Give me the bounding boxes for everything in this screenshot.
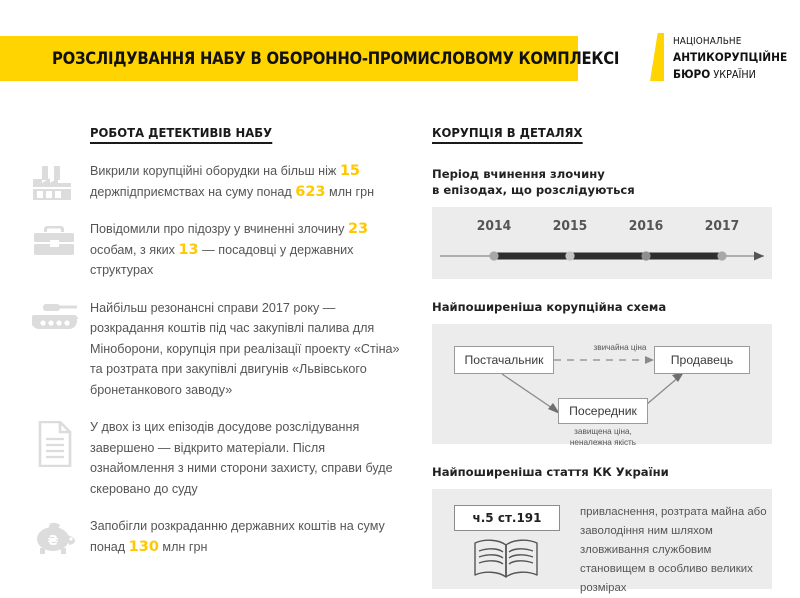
briefcase-icon <box>28 219 82 257</box>
fact-highlight-number: 130 <box>129 539 159 555</box>
fact-highlight-number: 623 <box>295 184 325 200</box>
open-book-icon <box>470 537 542 588</box>
scheme-heading: Найпоширеніша корупційна схема <box>432 299 772 315</box>
logo-mark-icon <box>650 33 664 81</box>
fact-item: Повідомили про підозру у вчиненні злочин… <box>28 219 408 281</box>
factory-icon <box>28 161 82 201</box>
timeline-year-label: 2017 <box>705 219 739 234</box>
page-header: РОЗСЛІДУВАННЯ НАБУ В ОБОРОННО-ПРОМИСЛОВО… <box>0 0 800 110</box>
scheme-box-intermediary: Посередник <box>558 398 648 424</box>
fact-text-fragment: особам, з яких <box>90 243 178 257</box>
timeline-year-label: 2014 <box>477 219 511 234</box>
scheme-box-supplier: Постачальник <box>454 346 554 374</box>
document-icon <box>28 417 82 467</box>
timeline-block: Період вчинення злочину в епізодах, що р… <box>432 166 772 279</box>
fact-text-fragment: Викрили корупційні оборудки на більш ніж <box>90 164 340 178</box>
timeline-graphic <box>432 241 772 271</box>
logo-line-3-bold: БЮРО <box>673 67 710 81</box>
scheme-box-seller: Продавець <box>654 346 750 374</box>
logo-line-2: АНТИКОРУПЦІЙНЕ <box>673 49 787 66</box>
fact-highlight-number: 13 <box>178 242 198 258</box>
fact-item: Викрили корупційні оборудки на більш ніж… <box>28 161 408 202</box>
logo-line-3: БЮРО УКРАЇНИ <box>673 66 787 84</box>
scheme-caption-inflated: завищена ціна, неналежна якість <box>553 426 653 448</box>
fact-text-fragment: Найбільш резонансні справи 2017 року — р… <box>90 301 400 397</box>
scheme-caption-inflated-line1: завищена ціна, <box>553 426 653 437</box>
timeline-heading-line2: в епізодах, що розслідуються <box>432 182 772 198</box>
fact-highlight-number: 15 <box>340 163 360 179</box>
fact-highlight-number: 23 <box>348 221 368 237</box>
title-banner: РОЗСЛІДУВАННЯ НАБУ В ОБОРОННО-ПРОМИСЛОВО… <box>0 36 578 81</box>
fact-item: ₴ Запобігли розкраданню державних коштів… <box>28 516 408 557</box>
fact-text-fragment: млн грн <box>326 185 375 199</box>
fact-item-text: Повідомили про підозру у вчиненні злочин… <box>82 219 408 281</box>
fact-item-text: Найбільш резонансні справи 2017 року — р… <box>82 298 408 401</box>
left-items-list: Викрили корупційні оборудки на більш ніж… <box>28 161 408 557</box>
fact-text-fragment: Повідомили про підозру у вчиненні злочин… <box>90 222 348 236</box>
fact-item: У двох із цих епізодів досудове розсліду… <box>28 417 408 499</box>
fact-text-fragment: У двох із цих епізодів досудове розсліду… <box>90 420 393 496</box>
scheme-caption-inflated-line2: неналежна якість <box>553 437 653 448</box>
piggy-bank-icon: ₴ <box>28 516 82 554</box>
scheme-caption-normal-price: звичайна ціна <box>572 342 668 353</box>
page-title: РОЗСЛІДУВАННЯ НАБУ В ОБОРОННО-ПРОМИСЛОВО… <box>52 49 619 68</box>
fact-item-text: У двох із цих епізодів досудове розсліду… <box>82 417 408 499</box>
nabu-logo: НАЦІОНАЛЬНЕ АНТИКОРУПЦІЙНЕ БЮРО УКРАЇНИ <box>650 33 790 85</box>
timeline-heading: Період вчинення злочину в епізодах, що р… <box>432 166 772 198</box>
fact-text-fragment: держпідприємствах на суму понад <box>90 185 295 199</box>
fact-item-text: Викрили корупційні оборудки на більш ніж… <box>82 161 408 202</box>
right-section-title: КОРУПЦІЯ В ДЕТАЛЯХ <box>432 125 582 144</box>
svg-text:₴: ₴ <box>47 534 58 549</box>
timeline-year-label: 2016 <box>629 219 663 234</box>
fact-item: Найбільш резонансні справи 2017 року — р… <box>28 298 408 401</box>
fact-item-text: Запобігли розкраданню державних коштів н… <box>82 516 408 557</box>
article-panel: ч.5 ст.191 привласнення <box>432 489 772 589</box>
article-block: Найпоширеніша стаття КК України ч.5 ст.1… <box>432 464 772 589</box>
scheme-block: Найпоширеніша корупційна схема Постачаль… <box>432 299 772 444</box>
article-badge: ч.5 ст.191 <box>454 505 560 531</box>
left-column: РОБОТА ДЕТЕКТИВІВ НАБУ Викрили корупційн… <box>28 124 408 557</box>
scheme-panel: Постачальник Продавець Посередник звичай… <box>432 324 772 444</box>
timeline-panel: 2014201520162017 <box>432 207 772 279</box>
timeline-heading-line1: Період вчинення злочину <box>432 166 772 182</box>
left-section-title: РОБОТА ДЕТЕКТИВІВ НАБУ <box>90 125 272 144</box>
timeline-year-label: 2015 <box>553 219 587 234</box>
tank-icon <box>28 298 82 334</box>
article-heading: Найпоширеніша стаття КК України <box>432 464 772 480</box>
right-column: КОРУПЦІЯ В ДЕТАЛЯХ Період вчинення злочи… <box>432 124 772 589</box>
logo-line-1: НАЦІОНАЛЬНЕ <box>673 34 790 49</box>
logo-text: НАЦІОНАЛЬНЕ АНТИКОРУПЦІЙНЕ БЮРО УКРАЇНИ <box>673 33 797 84</box>
logo-line-3-thin-text: УКРАЇНИ <box>713 69 756 81</box>
fact-text-fragment: млн грн <box>159 540 208 554</box>
timeline-year-labels: 2014201520162017 <box>432 219 772 237</box>
